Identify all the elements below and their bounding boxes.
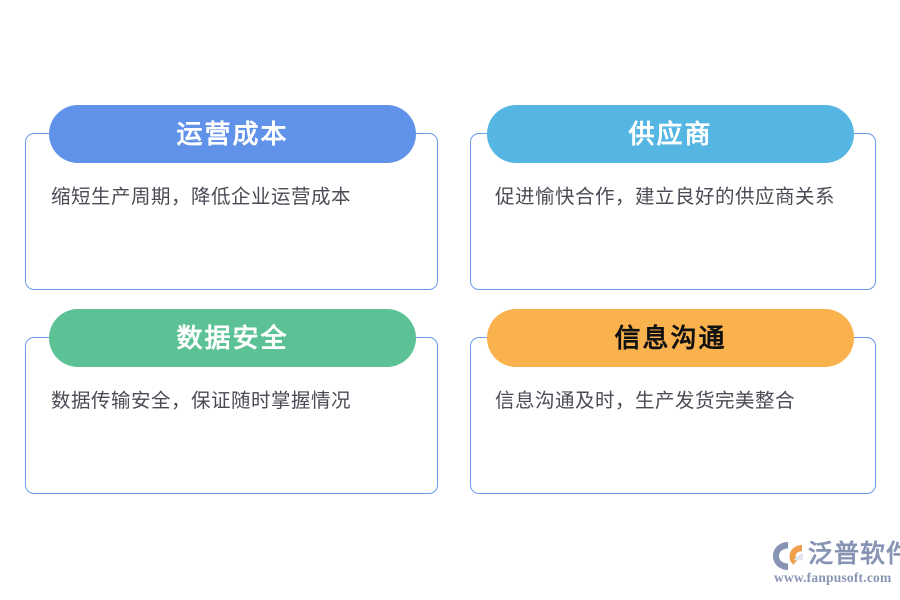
card-title-supplier: 供应商 xyxy=(628,121,712,147)
feature-card-information-communication: 信息沟通 信息沟通及时，生产发货完美整合 xyxy=(470,337,876,494)
card-body-data-security: 数据传输安全，保证随时掌握情况 xyxy=(51,384,417,418)
feature-card-data-security: 数据安全 数据传输安全，保证随时掌握情况 xyxy=(25,337,438,494)
card-header-pill-supplier: 供应商 xyxy=(487,105,854,163)
card-body-supplier: 促进愉快合作，建立良好的供应商关系 xyxy=(495,180,855,214)
card-body-information-communication: 信息沟通及时，生产发货完美整合 xyxy=(495,384,855,418)
fanpu-logo-url-text: www.fanpusoft.com xyxy=(774,570,891,586)
card-body-operating-cost: 缩短生产周期，降低企业运营成本 xyxy=(51,180,417,214)
feature-grid: 运营成本 缩短生产周期，降低企业运营成本 供应商 促进愉快合作，建立良好的供应商… xyxy=(0,0,900,600)
feature-card-supplier: 供应商 促进愉快合作，建立良好的供应商关系 xyxy=(470,133,876,290)
card-header-pill-operating-cost: 运营成本 xyxy=(49,105,416,163)
fanpu-logo-brand-text: 泛普软件 xyxy=(808,539,900,569)
card-header-pill-data-security: 数据安全 xyxy=(49,309,416,367)
feature-card-operating-cost: 运营成本 缩短生产周期，降低企业运营成本 xyxy=(25,133,438,290)
fanpu-logo-mark-icon xyxy=(772,541,806,571)
card-title-operating-cost: 运营成本 xyxy=(176,121,288,147)
card-header-pill-information-communication: 信息沟通 xyxy=(487,309,854,367)
card-title-information-communication: 信息沟通 xyxy=(614,325,726,351)
card-title-data-security: 数据安全 xyxy=(176,325,288,351)
watermark-logo: 泛普软件 www.fanpusoft.com xyxy=(772,539,888,587)
